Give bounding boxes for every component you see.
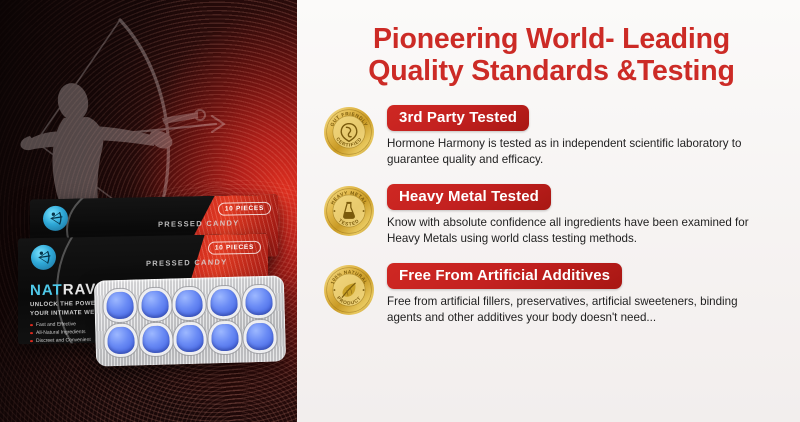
pill-cell: [103, 289, 137, 321]
pill-cell: [138, 289, 172, 321]
pill-cell: [207, 287, 241, 319]
pill: [176, 290, 204, 318]
page-title-line1: Pioneering World- Leading: [325, 23, 778, 55]
page-title-line2: Quality Standards &Testing: [325, 55, 778, 87]
pill-cell: [139, 323, 173, 355]
heavy-metal-tested-seal-icon: HEAVY METAL TESTED: [323, 185, 375, 237]
natural-product-seal-icon: 100% NATURAL PRODUCT: [323, 264, 375, 316]
pill-cell: [243, 320, 277, 352]
pill-cell: [208, 321, 242, 353]
feature-title-badge: Heavy Metal Tested: [387, 184, 551, 210]
feature-body: Heavy Metal Tested Know with absolute co…: [387, 183, 784, 248]
blister-pack: [94, 275, 286, 366]
pill: [211, 323, 239, 351]
quality-standards-banner: PRESSED CANDY 10 PIECES PRESSED CANDY 10: [0, 0, 800, 422]
feature-item-free-from-additives: 100% NATURAL PRODUCT: [319, 262, 784, 327]
feature-description: Hormone Harmony is tested as in independ…: [387, 136, 772, 169]
gut-friendly-certified-seal-icon: GUT FRIENDLY CERTIFIED: [323, 106, 375, 158]
box-pressed-candy-label: PRESSED CANDY: [146, 257, 228, 268]
pill-cell: [242, 286, 276, 318]
pill: [245, 288, 273, 316]
feature-description: Know with absolute confidence all ingred…: [387, 215, 772, 248]
pill: [142, 325, 170, 353]
feature-list: GUT FRIENDLY CERTIFIED 3rd Party Tested …: [319, 104, 784, 327]
product-bullet-list: Fast and Effective All-Natural Ingredien…: [30, 320, 91, 344]
pill: [246, 322, 274, 350]
pill: [107, 326, 135, 354]
feature-body: 3rd Party Tested Hormone Harmony is test…: [387, 104, 784, 169]
box-pressed-candy-label: PRESSED CANDY: [158, 218, 240, 229]
pill-cell: [174, 322, 208, 354]
pill: [210, 289, 238, 317]
feature-item-3rd-party-tested: GUT FRIENDLY CERTIFIED 3rd Party Tested …: [319, 104, 784, 169]
feature-description: Free from artificial fillers, preservati…: [387, 294, 772, 327]
feature-title-badge: 3rd Party Tested: [387, 105, 529, 131]
pill: [141, 291, 169, 319]
pill-cell: [173, 288, 207, 320]
content-panel: Pioneering World- Leading Quality Standa…: [297, 0, 800, 422]
pill: [177, 324, 205, 352]
pill: [106, 292, 134, 320]
page-title: Pioneering World- Leading Quality Standa…: [319, 20, 784, 88]
pill-cell: [104, 324, 138, 356]
feature-item-heavy-metal-tested: HEAVY METAL TESTED: [319, 183, 784, 248]
box-pieces-badge: 10 PIECES: [218, 202, 271, 216]
product-image-panel: PRESSED CANDY 10 PIECES PRESSED CANDY 10: [0, 0, 297, 422]
feature-title-badge: Free From Artificial Additives: [387, 263, 622, 289]
list-item: Discreet and Convenient: [30, 336, 91, 344]
feature-body: Free From Artificial Additives Free from…: [387, 262, 784, 327]
box-pieces-badge: 10 PIECES: [208, 241, 261, 255]
